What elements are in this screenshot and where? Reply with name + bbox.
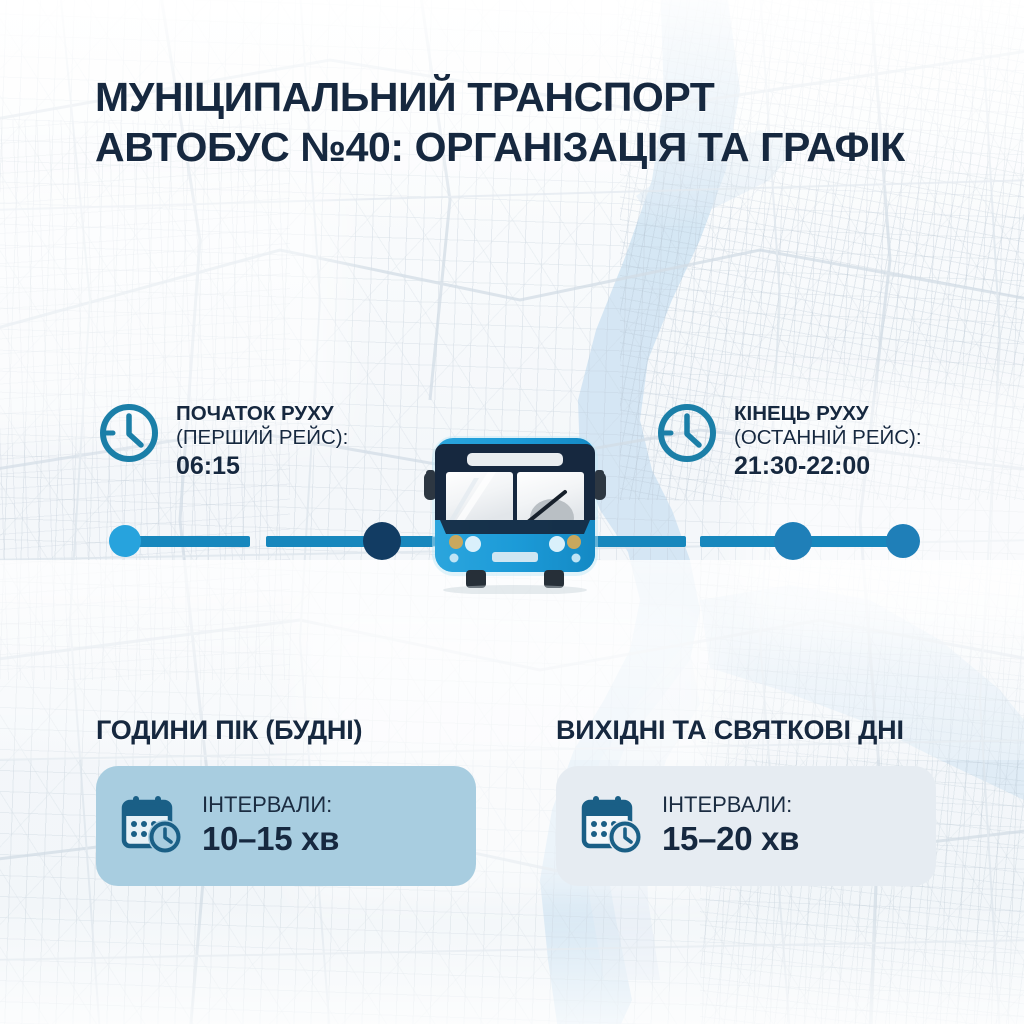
end-label-line1: КІНЕЦЬ РУХУ bbox=[734, 402, 922, 426]
bus-destination-sign bbox=[467, 453, 563, 466]
bus-wheel-right bbox=[544, 570, 564, 588]
weekend-interval-value: 15–20 хв bbox=[662, 818, 799, 859]
map-fade-bottom bbox=[0, 904, 1024, 1024]
bus-foglight-right bbox=[572, 554, 581, 563]
start-of-service-info: ПОЧАТОК РУХУ (ПЕРШИЙ РЕЙС): 06:15 bbox=[96, 400, 348, 482]
title-line-1: МУНІЦИПАЛЬНИЙ ТРАНСПОРТ bbox=[95, 72, 995, 122]
bus-wheel-left bbox=[466, 570, 486, 588]
weekday-interval-label: ІНТЕРВАЛИ: bbox=[202, 791, 339, 819]
clock-icon bbox=[654, 400, 720, 471]
bus-front-icon bbox=[424, 434, 606, 594]
bus-front-shadow bbox=[440, 520, 590, 534]
title-line-2: АВТОБУС №40: ОРГАНІЗАЦІЯ ТА ГРАФІК bbox=[95, 122, 995, 172]
card-weekday-intervals[interactable]: ІНТЕРВАЛИ: 10–15 хв bbox=[96, 766, 476, 886]
bus-windshield-left bbox=[446, 472, 513, 525]
bus-headlight-amber-left bbox=[449, 535, 463, 549]
infographic-canvas: МУНІЦИПАЛЬНИЙ ТРАНСПОРТ АВТОБУС №40: ОРГ… bbox=[0, 0, 1024, 1024]
start-time-value: 06:15 bbox=[176, 450, 348, 483]
bus-ground-shadow bbox=[443, 585, 587, 594]
card-weekend-intervals[interactable]: ІНТЕРВАЛИ: 15–20 хв bbox=[556, 766, 936, 886]
page-title: МУНІЦИПАЛЬНИЙ ТРАНСПОРТ АВТОБУС №40: ОРГ… bbox=[95, 72, 995, 172]
end-of-service-info: КІНЕЦЬ РУХУ (ОСТАННІЙ РЕЙС): 21:30-22:00 bbox=[654, 400, 922, 482]
end-time-value: 21:30-22:00 bbox=[734, 450, 922, 483]
section-title-weekday-peak: ГОДИНИ ПІК (БУДНІ) bbox=[96, 715, 362, 746]
weekday-interval-value: 10–15 хв bbox=[202, 818, 339, 859]
section-title-weekend-holiday: ВИХІДНІ ТА СВЯТКОВІ ДНІ bbox=[556, 715, 904, 746]
bus-licence-plate bbox=[492, 552, 538, 562]
bus-foglight-left bbox=[450, 554, 459, 563]
start-label-line1: ПОЧАТОК РУХУ bbox=[176, 402, 348, 426]
start-label-line2: (ПЕРШИЙ РЕЙС): bbox=[176, 426, 348, 450]
end-label-line2: (ОСТАННІЙ РЕЙС): bbox=[734, 426, 922, 450]
clock-icon bbox=[96, 400, 162, 471]
calendar-clock-icon bbox=[578, 790, 646, 863]
weekend-interval-label: ІНТЕРВАЛИ: bbox=[662, 791, 799, 819]
bus-headlight-left bbox=[465, 536, 481, 552]
bus-headlight-amber-right bbox=[567, 535, 581, 549]
bus-headlight-right bbox=[549, 536, 565, 552]
calendar-clock-icon bbox=[118, 790, 186, 863]
